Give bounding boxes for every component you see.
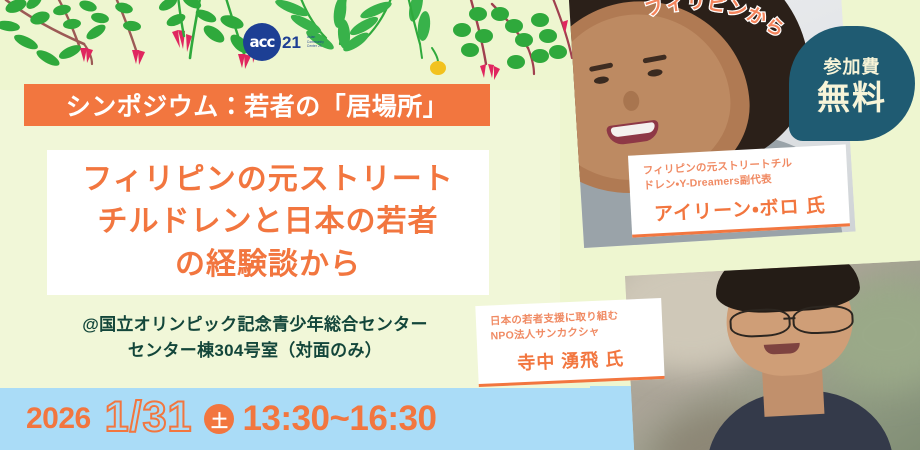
japanese-speaker-photo-content — [625, 260, 920, 450]
symposium-ribbon: シンポジウム：若者の「居場所」 — [24, 84, 490, 126]
venue-line-2: センター棟304号室（対面のみ） — [30, 338, 480, 364]
symposium-ribbon-text: シンポジウム：若者の「居場所」 — [66, 87, 449, 123]
japanese-speaker-photo — [625, 260, 920, 450]
acc21-logo: acc 21 Asian Community Center 21 — [243, 23, 338, 61]
speaker-role-japanese: 日本の若者支援に取り組む NPO法人サンカクシャ — [490, 308, 649, 345]
main-title-line-3: の経験談から — [175, 244, 361, 287]
speaker-card-filipina: フィリピンの元ストリートチル ドレン・Y-Dreamers副代表 アイリーン・ボ… — [628, 144, 850, 238]
speaker-card-japanese: 日本の若者支援に取り組む NPO法人サンカクシャ 寺中 湧飛 氏 — [475, 298, 664, 387]
main-title-line-2: チルドレンと日本の若者 — [98, 201, 439, 244]
date-time-bar: 2026 1/31 土 13:30~16:30 — [0, 388, 590, 450]
free-admission-value: 無料 — [817, 81, 887, 114]
main-title-card: フィリピンの元ストリート チルドレンと日本の若者 の経験談から — [47, 150, 489, 295]
acc21-logo-subtitle: Asian Community Center 21 — [307, 35, 324, 49]
speaker-name-filipina: アイリーン・ボロ 氏 — [644, 190, 835, 227]
free-admission-badge: 参加費 無料 — [789, 26, 915, 141]
event-poster: acc 21 Asian Community Center 21 シンポジウム：… — [0, 0, 920, 450]
event-time: 13:30~16:30 — [242, 399, 436, 439]
acc21-logo-number: 21 — [282, 34, 301, 51]
speaker-name-japanese: 寺中 湧飛 氏 — [491, 344, 650, 377]
free-admission-label: 参加費 — [824, 53, 881, 79]
venue-line-1: @国立オリンピック記念青少年総合センター — [30, 312, 480, 338]
speaker-role-filipina: フィリピンの元ストリートチル ドレン・Y-Dreamers副代表 — [642, 154, 833, 194]
main-title-line-1: フィリピンの元ストリート — [82, 159, 453, 202]
acc21-logo-mark-text: acc — [250, 33, 275, 51]
acc21-logo-mark: acc — [243, 23, 281, 61]
event-year: 2026 — [26, 402, 91, 436]
event-date: 1/31 — [105, 393, 193, 442]
event-day-of-week-badge: 土 — [204, 404, 234, 434]
venue-block: @国立オリンピック記念青少年総合センター センター棟304号室（対面のみ） — [30, 312, 480, 363]
